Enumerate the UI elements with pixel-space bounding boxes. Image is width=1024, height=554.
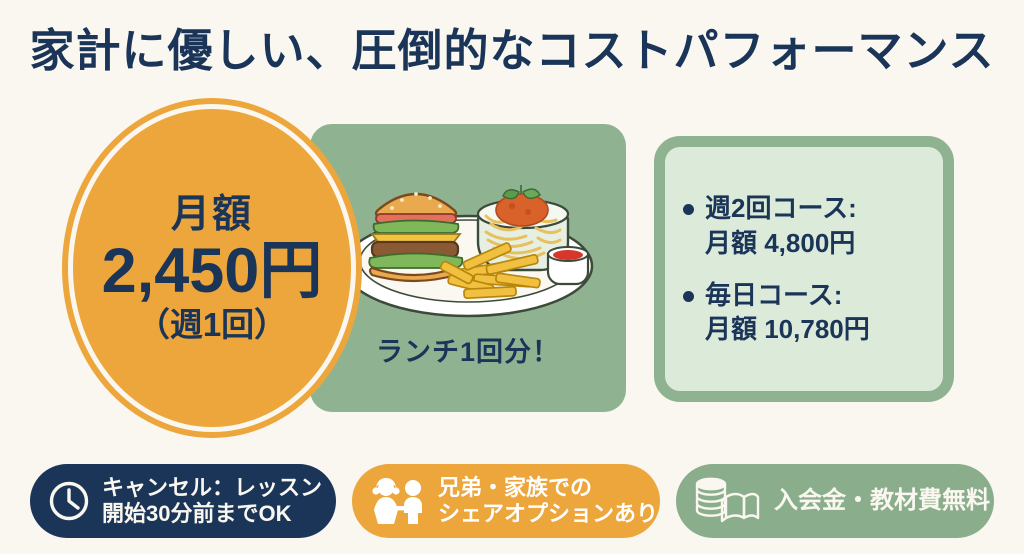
pill-line-1: 入会金・教材費無料 — [774, 487, 990, 516]
family-icon — [368, 476, 430, 526]
pill-free-fees: 入会金・教材費無料 — [676, 464, 994, 538]
plan-line-1: 週2回コース: — [705, 191, 857, 225]
pill-cancellation-policy: キャンセル：レッスン 開始30分前までOK — [30, 464, 336, 538]
bullet-icon — [683, 204, 694, 215]
plan-text: 週2回コース: 月額 4,800円 — [705, 191, 857, 260]
pill-line-1: キャンセル：レッスン — [102, 475, 322, 501]
infographic-canvas: 家計に優しい、圧倒的なコストパフォーマンス — [0, 0, 1024, 554]
clock-icon — [46, 478, 92, 524]
pill-text: 入会金・教材費無料 — [774, 487, 990, 516]
plan-item-week2: 週2回コース: 月額 4,800円 — [683, 191, 929, 260]
plan-item-daily: 毎日コース: 月額 10,780円 — [683, 278, 929, 347]
pill-family-share: 兄弟・家族での シェアオプションあり — [352, 464, 660, 538]
price-frequency: （週1回） — [137, 308, 287, 341]
pill-line-2: 開始30分前までOK — [102, 501, 322, 527]
meal-plate-illustration — [336, 148, 600, 324]
page-title: 家計に優しい、圧倒的なコストパフォーマンス — [0, 14, 1024, 79]
plan-line-2: 月額 10,780円 — [705, 312, 870, 346]
pill-text: キャンセル：レッスン 開始30分前までOK — [102, 475, 322, 528]
bullet-icon — [683, 291, 694, 302]
lunch-caption: ランチ1回分！ — [310, 330, 626, 369]
price-label: 月額 — [171, 195, 253, 234]
plan-line-2: 月額 4,800円 — [705, 226, 857, 260]
pill-line-1: 兄弟・家族での — [438, 475, 658, 501]
plan-text: 毎日コース: 月額 10,780円 — [705, 278, 870, 347]
plans-panel: 週2回コース: 月額 4,800円 毎日コース: 月額 10,780円 — [654, 136, 954, 402]
pill-line-2: シェアオプションあり — [438, 501, 658, 527]
coins-book-icon — [692, 475, 760, 527]
pill-text: 兄弟・家族での シェアオプションあり — [438, 475, 658, 528]
price-amount: 2,450円 — [102, 238, 323, 304]
price-circle: 月額 2,450円 （週1回） — [68, 104, 356, 432]
plan-line-1: 毎日コース: — [705, 278, 870, 312]
